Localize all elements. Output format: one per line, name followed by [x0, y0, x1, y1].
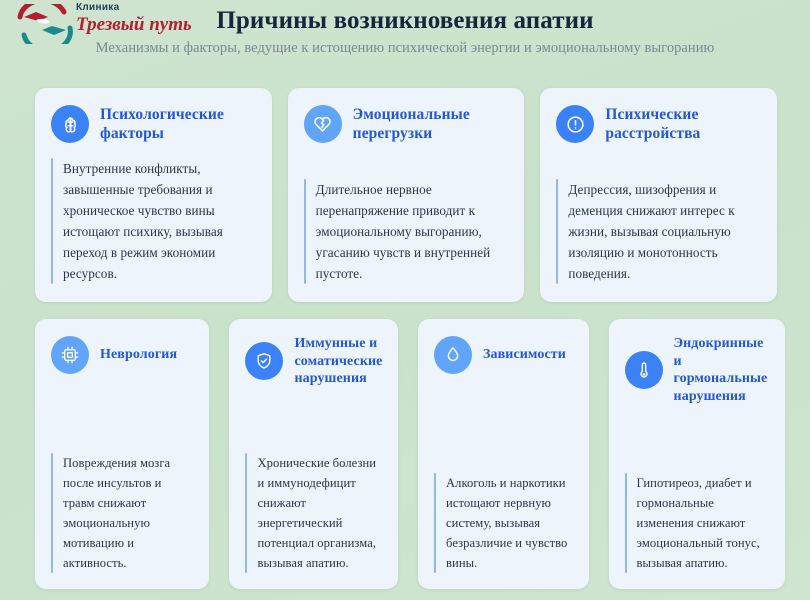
brain-icon: [51, 105, 89, 143]
card-header: Эндокринные и гормональные нарушения: [625, 335, 770, 405]
card-header: Зависимости: [434, 335, 574, 375]
helping-hands-logo-icon: [14, 4, 76, 44]
card-title: Эндокринные и гормональные нарушения: [674, 335, 770, 405]
clinic-name: Трезвый путь: [76, 14, 206, 36]
card-body: Повреждения мозга после инсультов и трав…: [63, 453, 194, 573]
clinic-word: Клиника: [76, 2, 206, 14]
broken-heart-icon: [304, 105, 342, 143]
card-body: Гипотиреоз, диабет и гормональные измене…: [637, 473, 770, 573]
card-body-wrap: Внутренние конфликты, завышенные требова…: [51, 158, 257, 284]
accent-bar: [51, 453, 53, 573]
card-title: Иммунные и соматические нарушения: [294, 335, 383, 388]
accent-bar: [625, 473, 627, 573]
card-header: Неврология: [51, 335, 194, 375]
card-header: Эмоциональные перегрузки: [304, 104, 510, 144]
card-neurology[interactable]: Неврология Повреждения мозга после инсул…: [35, 319, 209, 589]
page-header: Клиника Трезвый путь Причины возникновен…: [0, 0, 810, 68]
card-body: Длительное нервное перенапряжение привод…: [316, 179, 510, 284]
card-body: Алкоголь и наркотики истощают нервную си…: [446, 473, 574, 573]
card-body-wrap: Алкоголь и наркотики истощают нервную си…: [434, 473, 574, 573]
card-title: Психические расстройства: [605, 105, 762, 143]
card-emotional-overload[interactable]: Эмоциональные перегрузки Длительное нерв…: [288, 88, 525, 302]
card-header: Психические расстройства: [556, 104, 762, 144]
card-body: Депрессия, шизофрения и деменция снижают…: [568, 179, 762, 284]
cards-row-bottom: Неврология Повреждения мозга после инсул…: [0, 302, 810, 589]
cpu-chip-icon: [51, 336, 89, 374]
clinic-logo-text: Клиника Трезвый путь: [76, 2, 206, 36]
card-header: Психологические факторы: [51, 104, 257, 144]
accent-bar: [245, 453, 247, 573]
card-title: Психологические факторы: [100, 105, 257, 143]
card-immune-somatic-disorders[interactable]: Иммунные и соматические нарушения Хронич…: [229, 319, 398, 589]
card-endocrine-hormonal-disorders[interactable]: Эндокринные и гормональные нарушения Гип…: [609, 319, 785, 589]
card-body-wrap: Гипотиреоз, диабет и гормональные измене…: [625, 473, 770, 573]
accent-bar: [556, 179, 558, 284]
card-psychological-factors[interactable]: Психологические факторы Внутренние конфл…: [35, 88, 272, 302]
card-title: Неврология: [100, 346, 177, 364]
card-addictions[interactable]: Зависимости Алкоголь и наркотики истощаю…: [418, 319, 589, 589]
shield-check-icon: [245, 342, 283, 380]
card-title: Зависимости: [483, 346, 566, 364]
thermometer-icon: [625, 351, 663, 389]
card-body-wrap: Длительное нервное перенапряжение привод…: [304, 179, 510, 284]
card-body: Хронические болезни и иммунодефицит сниж…: [257, 453, 383, 573]
card-title: Эмоциональные перегрузки: [353, 105, 510, 143]
card-body-wrap: Депрессия, шизофрения и деменция снижают…: [556, 179, 762, 284]
card-mental-disorders[interactable]: Психические расстройства Депрессия, шизо…: [540, 88, 777, 302]
accent-bar: [51, 158, 53, 284]
accent-bar: [304, 179, 306, 284]
card-body-wrap: Хронические болезни и иммунодефицит сниж…: [245, 453, 383, 573]
clinic-logo[interactable]: Клиника Трезвый путь: [14, 2, 204, 46]
alert-circle-icon: [556, 105, 594, 143]
card-header: Иммунные и соматические нарушения: [245, 335, 383, 388]
accent-bar: [434, 473, 436, 573]
card-body-wrap: Повреждения мозга после инсультов и трав…: [51, 453, 194, 573]
card-body: Внутренние конфликты, завышенные требова…: [63, 158, 257, 284]
cards-row-top: Психологические факторы Внутренние конфл…: [0, 68, 810, 302]
water-drop-icon: [434, 336, 472, 374]
